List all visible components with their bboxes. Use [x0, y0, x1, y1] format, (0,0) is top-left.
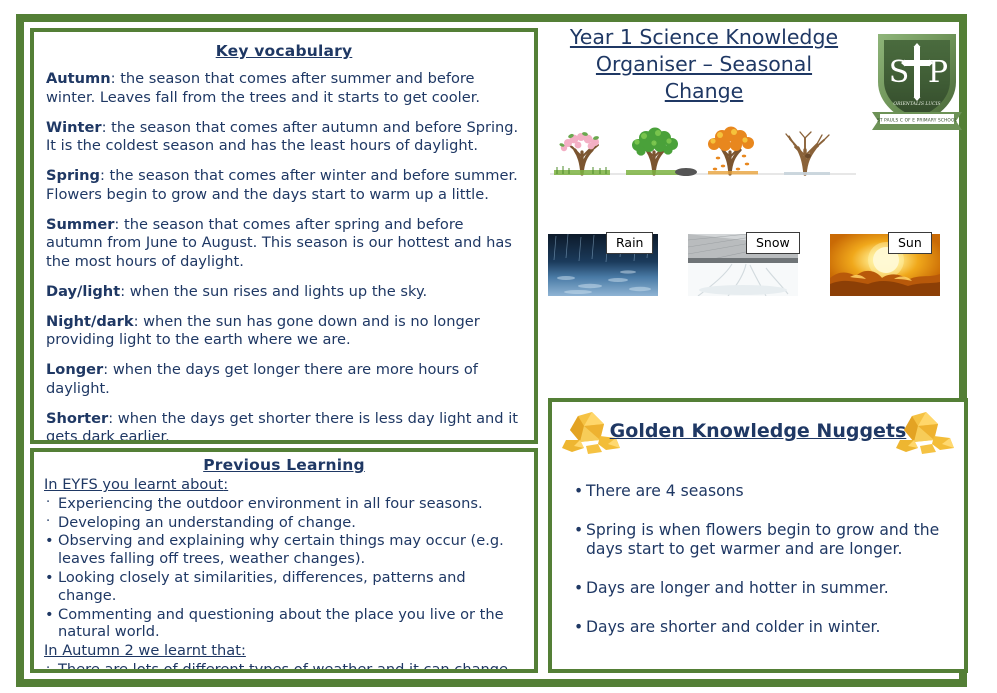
eyfs-list: ·Experiencing the outdoor environment in…	[44, 495, 524, 641]
list-item-text: Commenting and questioning about the pla…	[58, 606, 504, 641]
list-item: •Commenting and questioning about the pl…	[44, 606, 524, 642]
svg-text:P: P	[928, 55, 948, 90]
list-item-text: Experiencing the outdoor environment in …	[58, 495, 483, 512]
nuggets-list: •There are 4 seasons •Spring is when flo…	[552, 482, 964, 637]
list-item: •Days are longer and hotter in summer.	[574, 579, 948, 599]
eyfs-subheading-text: In EYFS you learnt about	[44, 476, 223, 493]
list-item: •Looking closely at similarities, differ…	[44, 569, 524, 605]
vocabulary-term: Autumn	[46, 70, 111, 87]
vocabulary-item: Longer: when the days get longer there a…	[46, 361, 522, 398]
vocabulary-item: Spring: the season that comes after wint…	[46, 167, 522, 204]
bullet-marker: •	[45, 569, 54, 587]
eyfs-subheading: In EYFS you learnt about:	[44, 476, 524, 494]
vocabulary-item: Shorter: when the days get shorter there…	[46, 410, 522, 444]
list-item-text: Days are shorter and colder in winter.	[586, 618, 880, 636]
list-item: •Days are shorter and colder in winter.	[574, 618, 948, 638]
vocabulary-term: Night/dark	[46, 313, 134, 330]
list-item: •There are 4 seasons	[574, 482, 948, 502]
golden-knowledge-nuggets-panel: Golden Knowledge Nuggets •There are 4 se…	[548, 398, 968, 673]
vocabulary-definition: : the season that comes after spring and…	[46, 216, 512, 270]
list-item-text: Developing an understanding of change.	[58, 514, 356, 531]
st-pauls-school-crest-logo: S P ORIENTALIS LUCIS ST PAULS C OF E PRI…	[866, 26, 968, 130]
right-column: Year 1 Science Knowledge Organiser – Sea…	[548, 24, 968, 126]
vocabulary-term: Spring	[46, 167, 100, 184]
vocabulary-list: Autumn: the season that comes after summ…	[46, 70, 522, 444]
vocabulary-term: Day/light	[46, 283, 120, 300]
autumn-subheading-colon: :	[241, 642, 246, 659]
key-vocabulary-heading: Key vocabulary	[46, 42, 522, 60]
page-title: Year 1 Science Knowledge Organiser – Sea…	[554, 24, 854, 105]
list-item: •Observing and explaining why certain th…	[44, 532, 524, 568]
vocabulary-definition: : when the days get longer there are mor…	[46, 361, 478, 397]
four-seasons-trees-image	[548, 112, 858, 184]
vocabulary-definition: : when the sun rises and lights up the s…	[120, 283, 427, 300]
vocabulary-term: Longer	[46, 361, 103, 378]
svg-text:ST PAULS C OF E PRIMARY SCHOOL: ST PAULS C OF E PRIMARY SCHOOL	[877, 117, 958, 123]
vocabulary-definition: : when the days get shorter there is les…	[46, 410, 518, 444]
bullet-marker: ·	[46, 514, 50, 530]
weather-label-sun: Sun	[888, 232, 932, 254]
title-row: Year 1 Science Knowledge Organiser – Sea…	[548, 24, 968, 126]
vocabulary-term: Shorter	[46, 410, 108, 427]
autumn-subheading: In Autumn 2 we learnt that:	[44, 642, 524, 660]
list-item: ·There are lots of different types of we…	[44, 661, 524, 673]
bullet-marker: •	[574, 579, 583, 599]
vocabulary-item: Night/dark: when the sun has gone down a…	[46, 313, 522, 350]
bullet-marker: ·	[46, 661, 50, 673]
vocabulary-definition: : the season that comes after winter and…	[46, 167, 518, 203]
list-item-text: There are lots of different types of wea…	[58, 661, 513, 673]
bullet-marker: •	[574, 618, 583, 638]
list-item-text: Spring is when flowers begin to grow and…	[586, 521, 939, 559]
list-item: ·Experiencing the outdoor environment in…	[44, 495, 524, 513]
weather-item-snow: Snow	[688, 234, 798, 296]
vocabulary-item: Winter: the season that comes after autu…	[46, 119, 522, 156]
list-item: ·Developing an understanding of change.	[44, 514, 524, 532]
vocabulary-term: Summer	[46, 216, 114, 233]
weather-photos-row: Rain	[548, 234, 948, 304]
weather-item-rain: Rain	[548, 234, 658, 296]
autumn-subheading-text: In Autumn 2 we learnt that	[44, 642, 241, 659]
bullet-marker: ·	[46, 495, 50, 511]
vocabulary-item: Summer: the season that comes after spri…	[46, 216, 522, 272]
list-item-text: Days are longer and hotter in summer.	[586, 579, 889, 597]
vocabulary-definition: : the season that comes after autumn and…	[46, 119, 518, 155]
knowledge-organiser-page: Key vocabulary Autumn: the season that c…	[0, 0, 997, 693]
bullet-marker: •	[574, 482, 583, 502]
list-item-text: Observing and explaining why certain thi…	[58, 532, 504, 567]
list-item-text: Looking closely at similarities, differe…	[58, 569, 466, 604]
nuggets-heading-row: Golden Knowledge Nuggets	[552, 402, 964, 460]
bullet-marker: •	[45, 532, 54, 550]
svg-text:ORIENTALIS LUCIS: ORIENTALIS LUCIS	[893, 101, 940, 107]
previous-learning-heading: Previous Learning	[44, 456, 524, 474]
autumn-list: ·There are lots of different types of we…	[44, 661, 524, 673]
bullet-marker: •	[574, 521, 583, 541]
key-vocabulary-panel: Key vocabulary Autumn: the season that c…	[30, 28, 538, 444]
weather-item-sun: Sun	[830, 234, 940, 296]
bullet-marker: •	[45, 606, 54, 624]
list-item-text: There are 4 seasons	[586, 482, 744, 500]
weather-label-snow: Snow	[746, 232, 800, 254]
vocabulary-item: Day/light: when the sun rises and lights…	[46, 283, 522, 302]
weather-label-rain: Rain	[606, 232, 653, 254]
vocabulary-item: Autumn: the season that comes after summ…	[46, 70, 522, 107]
previous-learning-panel: Previous Learning In EYFS you learnt abo…	[30, 448, 538, 673]
vocabulary-term: Winter	[46, 119, 102, 136]
vocabulary-definition: : the season that comes after summer and…	[46, 70, 480, 106]
eyfs-subheading-colon: :	[223, 476, 228, 493]
gold-nugget-icon	[892, 410, 958, 456]
list-item: •Spring is when flowers begin to grow an…	[574, 521, 948, 560]
